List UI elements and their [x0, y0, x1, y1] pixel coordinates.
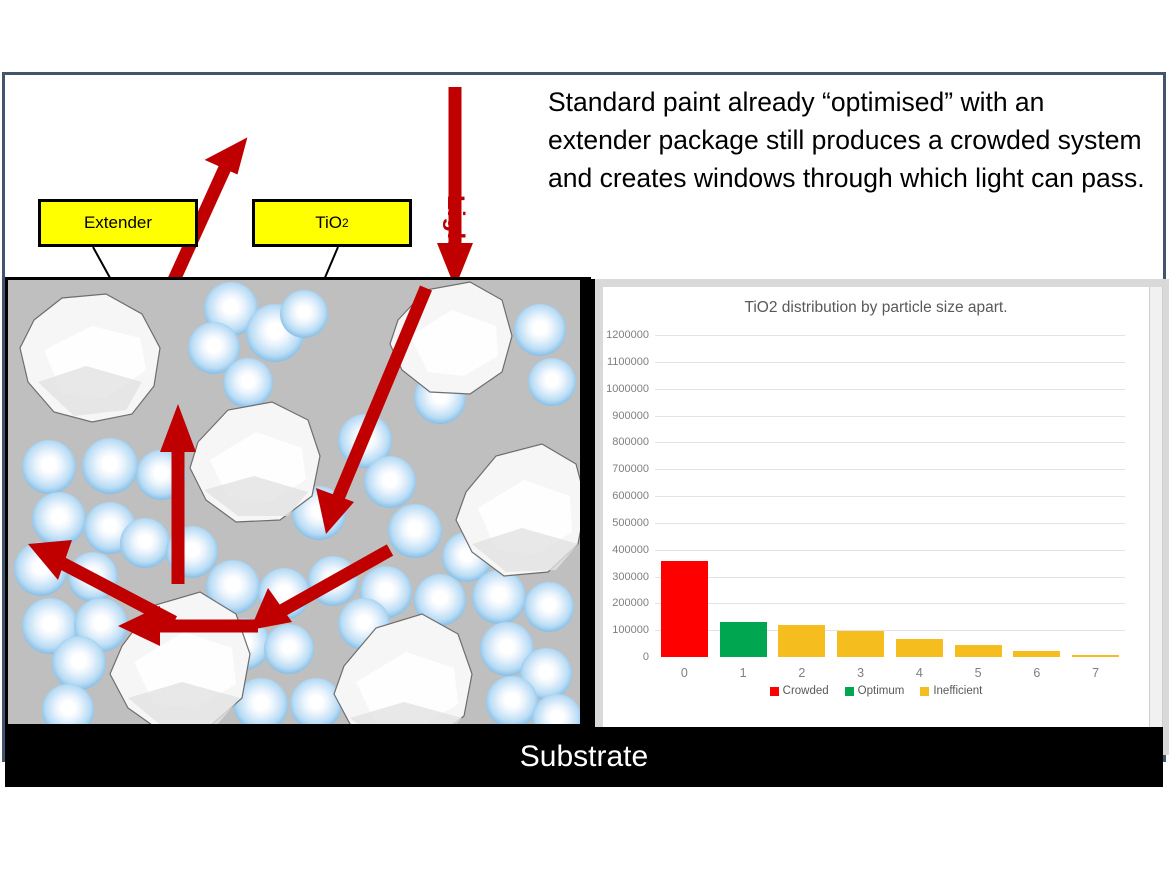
caption-text: Standard paint already “optimised” with … [548, 83, 1148, 197]
chart-legend-swatch [845, 687, 854, 696]
extender-particle [386, 280, 516, 400]
chart-bar[interactable] [955, 645, 1002, 657]
chart-panel: TiO2 distribution by particle size apart… [591, 279, 1169, 755]
chart-y-tick-label: 300000 [612, 571, 649, 583]
chart-y-tick-label: 500000 [612, 517, 649, 529]
chart-y-tick-label: 1000000 [606, 383, 649, 395]
chart-gridline [655, 362, 1125, 363]
tio2-sphere [136, 450, 186, 500]
tio2-sphere [528, 358, 576, 406]
tio2-sphere [42, 684, 94, 727]
tio2-sphere [120, 518, 170, 568]
chart-x-tick-label: 4 [916, 666, 923, 680]
chart-bar[interactable] [720, 622, 767, 657]
chart-plot-area: 0100000200000300000400000500000600000700… [655, 335, 1125, 657]
tio2-sphere [82, 438, 138, 494]
substrate-bar: Substrate [5, 727, 1163, 787]
extender-particle [106, 588, 254, 727]
callout-tio2-sub: 2 [342, 216, 349, 230]
chart-legend-swatch [770, 687, 779, 696]
chart-y-tick-label: 400000 [612, 544, 649, 556]
chart-x-tick-label: 3 [857, 666, 864, 680]
chart-gridline [655, 523, 1125, 524]
chart-x-tick-label: 7 [1092, 666, 1099, 680]
chart-bar[interactable] [1072, 655, 1119, 657]
chart-y-tick-label: 700000 [612, 463, 649, 475]
chart-x-tick-label: 1 [740, 666, 747, 680]
chart-bar[interactable] [661, 561, 708, 657]
chart-gridline [655, 496, 1125, 497]
tio2-sphere [514, 304, 566, 356]
chart-y-tick-label: 1200000 [606, 329, 649, 341]
chart-frame: TiO2 distribution by particle size apart… [603, 287, 1149, 745]
chart-title: TiO2 distribution by particle size apart… [603, 299, 1149, 317]
light-label: Light [441, 195, 469, 256]
chart-scrollbar[interactable] [1149, 287, 1163, 745]
chart-bar[interactable] [1013, 651, 1060, 657]
chart-gridline [655, 550, 1125, 551]
callout-tio2-label: TiO [315, 213, 342, 233]
chart-bar[interactable] [896, 639, 943, 657]
substrate-label: Substrate [520, 740, 648, 774]
chart-legend-item[interactable]: Inefficient [920, 685, 982, 697]
chart-y-tick-label: 600000 [612, 490, 649, 502]
tio2-sphere [258, 568, 310, 620]
chart-y-tick-label: 1100000 [607, 356, 649, 368]
tio2-sphere [388, 504, 442, 558]
chart-x-tick-label: 5 [975, 666, 982, 680]
paint-film-panel [5, 277, 583, 727]
chart-gridline [655, 389, 1125, 390]
tio2-sphere [524, 582, 574, 632]
chart-legend-swatch [920, 687, 929, 696]
extender-particle [452, 440, 583, 580]
extender-particle [330, 610, 476, 727]
chart-y-tick-label: 0 [643, 651, 649, 663]
chart-gridline [655, 416, 1125, 417]
chart-legend-item[interactable]: Optimum [845, 685, 905, 697]
callout-extender-label: Extender [84, 213, 152, 233]
tio2-sphere [308, 556, 358, 606]
chart-legend: CrowdedOptimumInefficient [603, 685, 1149, 697]
chart-legend-label: Inefficient [933, 685, 982, 697]
chart-x-tick-label: 2 [798, 666, 805, 680]
tio2-sphere [486, 676, 538, 727]
chart-gridline [655, 469, 1125, 470]
extender-particle [184, 398, 324, 528]
chart-x-tick-label: 0 [681, 666, 688, 680]
slide: Standard paint already “optimised” with … [2, 72, 1166, 762]
chart-gridline [655, 577, 1125, 578]
tio2-sphere [264, 624, 314, 674]
callout-tio2[interactable]: TiO2 [252, 199, 412, 247]
tio2-sphere [14, 542, 68, 596]
chart-bar[interactable] [778, 625, 825, 657]
chart-gridline [655, 442, 1125, 443]
callout-extender[interactable]: Extender [38, 199, 198, 247]
panel-divider [583, 277, 591, 727]
chart-legend-item[interactable]: Crowded [770, 685, 829, 697]
chart-legend-label: Optimum [858, 685, 905, 697]
chart-gridline [655, 603, 1125, 604]
tio2-sphere [364, 456, 416, 508]
chart-y-tick-label: 800000 [612, 436, 649, 448]
tio2-sphere [32, 492, 86, 546]
tio2-sphere [280, 290, 328, 338]
chart-bar[interactable] [837, 631, 884, 657]
extender-particle [14, 290, 164, 425]
chart-x-tick-label: 6 [1033, 666, 1040, 680]
chart-y-tick-label: 100000 [612, 624, 649, 636]
tio2-sphere [22, 440, 76, 494]
chart-gridline [655, 335, 1125, 336]
chart-legend-label: Crowded [783, 685, 829, 697]
chart-y-tick-label: 200000 [612, 597, 649, 609]
tio2-sphere [52, 636, 106, 690]
chart-y-tick-label: 900000 [612, 410, 649, 422]
